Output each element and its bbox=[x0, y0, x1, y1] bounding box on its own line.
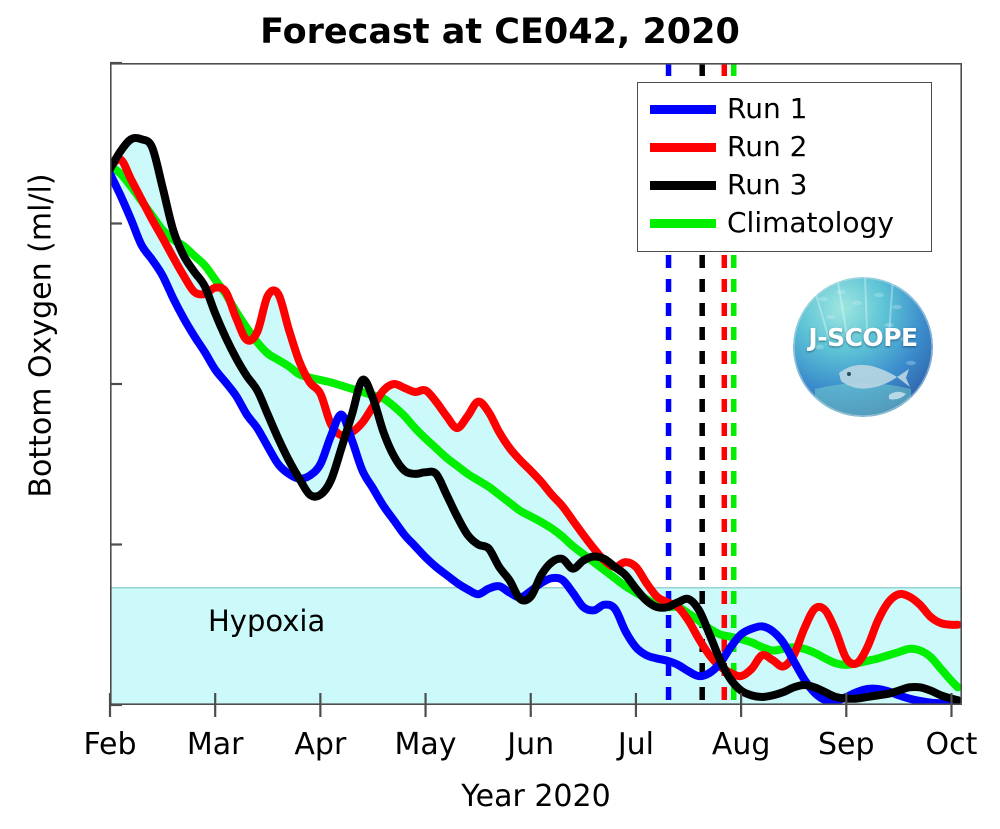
hypoxia-region-label: Hypoxia bbox=[208, 604, 325, 638]
legend-swatch-run-1 bbox=[650, 105, 716, 114]
x-tick-label-sep: Sep bbox=[786, 727, 906, 762]
x-tick-label-feb: Feb bbox=[50, 727, 170, 762]
x-tick-label-mar: Mar bbox=[155, 727, 275, 762]
legend-swatch-run-2 bbox=[650, 143, 716, 152]
x-tick-label-may: May bbox=[366, 727, 486, 762]
legend-label-climatology: Climatology bbox=[727, 209, 894, 237]
j-scope-logo-text: J-SCOPE bbox=[793, 323, 933, 352]
x-axis-label: Year 2020 bbox=[110, 779, 962, 814]
legend-label-run-3: Run 3 bbox=[727, 171, 807, 199]
legend-label-run-1: Run 1 bbox=[727, 95, 807, 123]
x-tick-label-aug: Aug bbox=[681, 727, 801, 762]
figure-container: Forecast at CE042, 2020 bbox=[0, 0, 1000, 829]
legend-swatch-climatology bbox=[650, 219, 716, 228]
legend-label-run-2: Run 2 bbox=[727, 133, 807, 161]
chart-title: Forecast at CE042, 2020 bbox=[0, 12, 1000, 52]
x-tick-label-jun: Jun bbox=[471, 727, 591, 762]
x-tick-label-apr: Apr bbox=[260, 727, 380, 762]
x-tick-label-jul: Jul bbox=[576, 727, 696, 762]
y-axis-label: Bottom Oxygen (ml/l) bbox=[24, 16, 59, 656]
legend-item-run-3[interactable]: Run 3 bbox=[650, 166, 921, 204]
j-scope-logo: J-SCOPE bbox=[793, 277, 933, 417]
x-tick-label-oct: Oct bbox=[891, 727, 1000, 762]
legend-swatch-run-3 bbox=[650, 181, 716, 190]
legend-item-run-2[interactable]: Run 2 bbox=[650, 128, 921, 166]
legend-item-run-1[interactable]: Run 1 bbox=[650, 90, 921, 128]
chart-legend: Run 1 Run 2 Run 3 Climatology bbox=[637, 82, 932, 252]
legend-item-climatology[interactable]: Climatology bbox=[650, 204, 921, 242]
